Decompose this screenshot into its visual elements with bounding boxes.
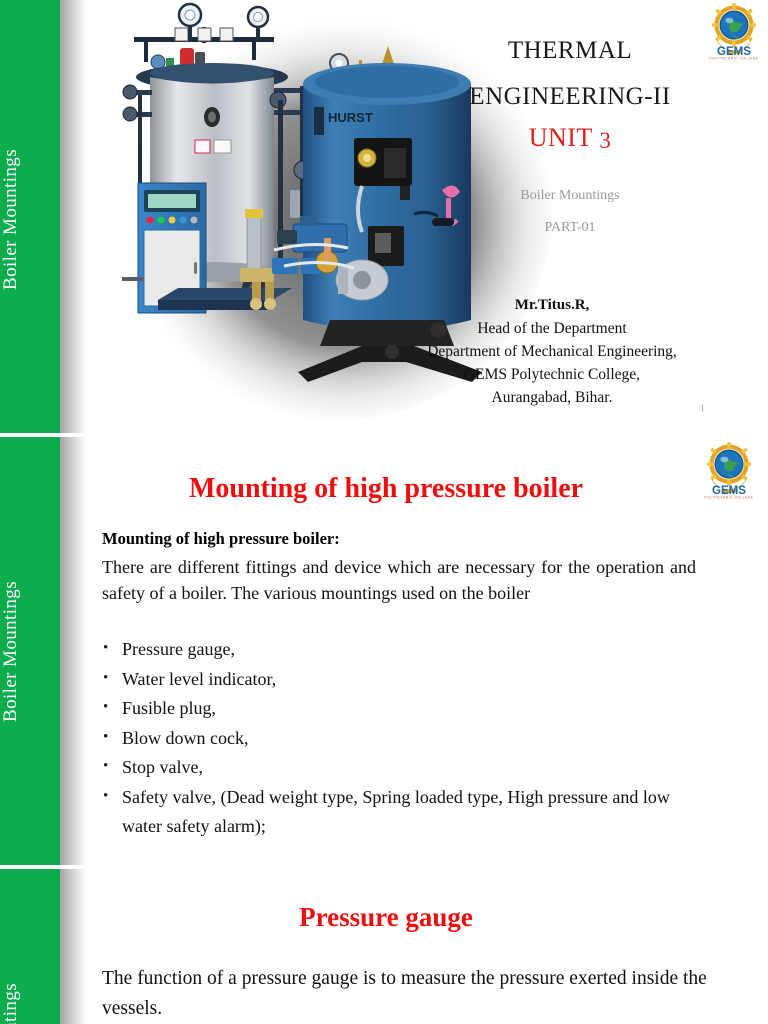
slide-3-paragraph: The function of a pressure gauge is to m… <box>102 964 742 1024</box>
presentation-title-line-2: ENGINEERING-II <box>420 74 720 120</box>
author-department: Department of Mechanical Engineering, <box>352 340 752 363</box>
slide-2-mountings: Mounting of high pressure boiler Mountin… <box>0 437 768 865</box>
mountings-list: Pressure gauge, Water level indicator, F… <box>102 635 702 842</box>
part-label: PART-01 <box>420 220 720 236</box>
list-item: Stop valve, <box>102 753 702 783</box>
author-place: Aurangabad, Bihar. <box>352 386 752 409</box>
gems-logo-icon: GEMS POLYTECHNIC COLLEGE <box>700 441 758 501</box>
slide-2-paragraph: There are different fittings and device … <box>102 554 696 606</box>
list-item: Water level indicator, <box>102 665 702 695</box>
slide-2-lead-in: Mounting of high pressure boiler: <box>102 529 702 549</box>
list-item: Pressure gauge, <box>102 635 702 665</box>
sidebar-label: Boiler Mountings <box>0 929 60 1024</box>
presentation-subtitle: Boiler Mountings <box>420 188 720 204</box>
slide-number: 1 <box>700 403 705 413</box>
sidebar-shadow <box>60 437 86 865</box>
gems-logo-icon: GEMS POLYTECHNIC COLLEGE <box>705 2 763 62</box>
slide-divider <box>0 433 768 437</box>
author-block: Mr.Titus.R, Head of the Department Depar… <box>352 294 752 409</box>
sidebar-label: Boiler Mountings <box>0 527 60 777</box>
svg-text:POLYTECHNIC COLLEGE: POLYTECHNIC COLLEGE <box>710 57 759 61</box>
slide-3-heading: Pressure gauge <box>86 902 686 933</box>
unit-number: 3 <box>599 128 611 153</box>
author-role: Head of the Department <box>352 317 752 340</box>
author-name: Mr.Titus.R, <box>352 294 752 317</box>
author-college: GEMS Polytechnic College, <box>352 363 752 386</box>
list-item: Blow down cock, <box>102 724 702 754</box>
slide-divider <box>0 865 768 869</box>
sidebar-shadow <box>60 869 86 1024</box>
list-item: Safety valve, (Dead weight type, Spring … <box>102 783 702 842</box>
unit-label: UNIT 3 <box>420 123 720 153</box>
slide-1-title-slide: HURST <box>0 0 768 433</box>
svg-text:POLYTECHNIC COLLEGE: POLYTECHNIC COLLEGE <box>705 496 754 500</box>
slide-deck-document: HURST <box>0 0 768 1024</box>
slide-2-heading: Mounting of high pressure boiler <box>86 473 686 505</box>
svg-text:HURST: HURST <box>328 110 373 125</box>
sidebar-label: Boiler Mountings <box>0 100 60 340</box>
presentation-title-line-1: THERMAL <box>420 28 720 74</box>
unit-word: UNIT <box>529 123 593 152</box>
slide-3-pressure-gauge: Pressure gauge The function of a pressur… <box>0 869 768 1024</box>
list-item: Fusible plug, <box>102 694 702 724</box>
